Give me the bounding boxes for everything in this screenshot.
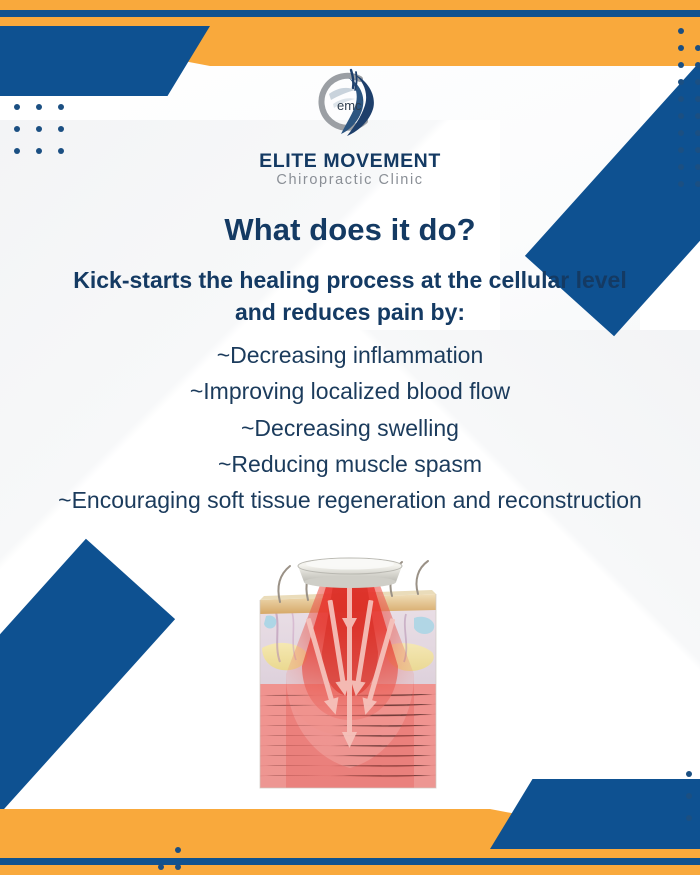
decorative-dot (686, 815, 692, 821)
decorative-dot (175, 864, 181, 870)
benefit-item: ~Decreasing swelling (0, 410, 700, 446)
bottom-right-navy-parallelogram (490, 779, 700, 849)
bottom-navy-stripe (0, 858, 700, 865)
benefit-item: ~Decreasing inflammation (0, 337, 700, 373)
decorative-dot (686, 793, 692, 799)
decorative-dot (678, 28, 684, 34)
decorative-dot (158, 864, 164, 870)
laser-applicator-head (298, 558, 402, 588)
brand-logo: emc ' ELITE MOVEMENT Chiropractic Clinic (0, 66, 700, 189)
poster-canvas: emc ' ELITE MOVEMENT Chiropractic Clinic… (0, 0, 700, 875)
decorative-dot (686, 771, 692, 777)
decorative-dot (175, 847, 181, 853)
page-title: What does it do? (0, 212, 700, 248)
decorative-dot (678, 45, 684, 51)
benefit-list: ~Decreasing inflammation~Improving local… (0, 337, 700, 519)
decorative-dot (695, 45, 700, 51)
top-navy-stripe (0, 10, 700, 17)
brand-name: ELITE MOVEMENT (259, 151, 441, 171)
benefit-item: ~Encouraging soft tissue regeneration an… (0, 482, 700, 518)
brand-tagline: Chiropractic Clinic (276, 173, 423, 189)
subheading: Kick-starts the healing process at the c… (0, 264, 700, 329)
benefit-item: ~Reducing muscle spasm (0, 446, 700, 482)
bottom-orange-stripe-secondary (0, 849, 700, 858)
emc-swoosh-logo-icon: emc ' (307, 66, 393, 142)
bottom-orange-stripe (0, 865, 700, 875)
benefit-item: ~Improving localized blood flow (0, 373, 700, 409)
logo-monogram-text: emc (337, 98, 362, 113)
laser-therapy-skin-cross-section-illustration (246, 556, 454, 802)
top-orange-stripe (0, 0, 700, 10)
top-orange-stripe-secondary (0, 17, 700, 26)
content-block: What does it do? Kick-starts the healing… (0, 212, 700, 519)
svg-text:': ' (362, 100, 363, 106)
